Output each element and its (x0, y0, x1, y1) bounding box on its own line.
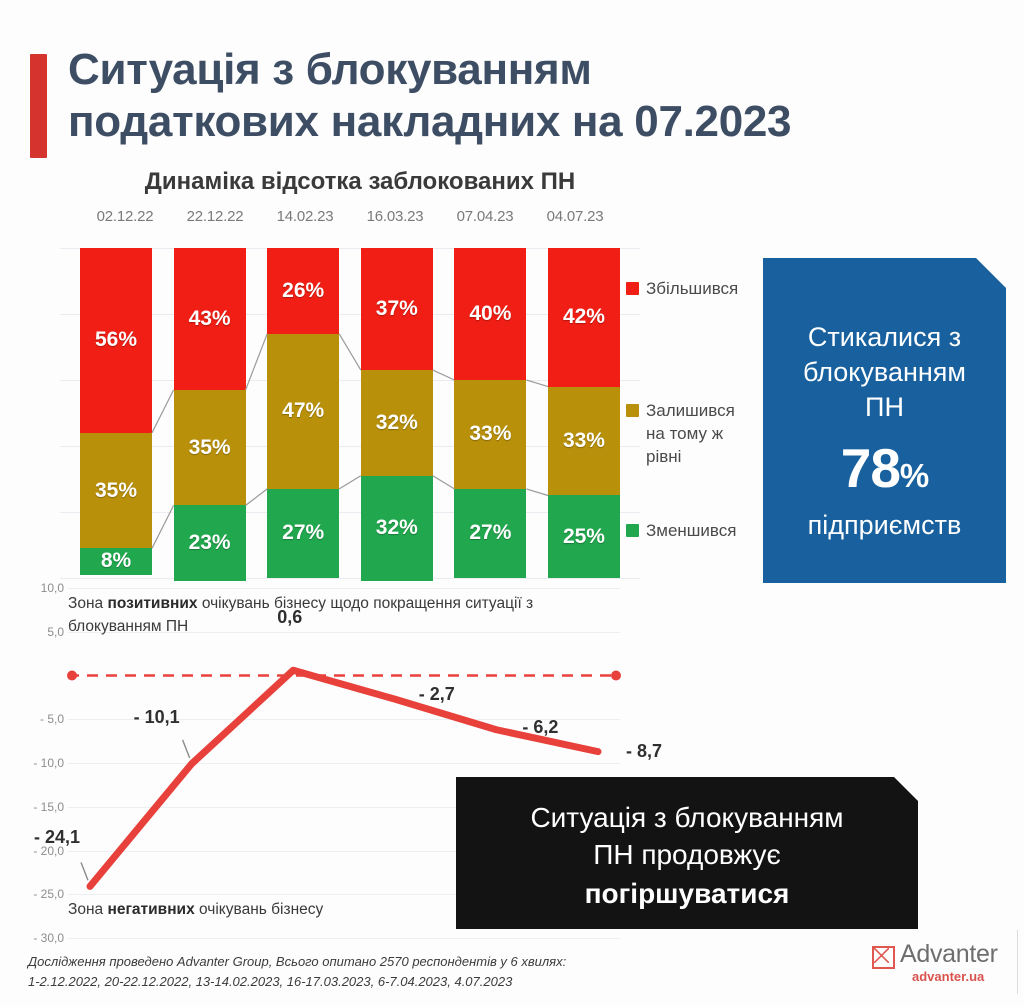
y-axis-tick-label: 5,0 (47, 625, 64, 639)
bar-column: 37%32%32% (361, 248, 433, 578)
black-callout-card: Ситуація з блокуванням ПН продовжує погі… (456, 777, 918, 929)
y-axis-tick-label: - 10,0 (33, 756, 64, 770)
bar-date-label: 16.03.23 (350, 208, 440, 234)
bar-segment-same: 33% (454, 380, 526, 489)
bar-segment-inc: 42% (548, 248, 620, 387)
footer-note-line-2: 1-2.12.2022, 20-22.12.2022, 13-14.02.202… (28, 972, 648, 992)
page-title-line-2: податкових накладних на 07.2023 (68, 96, 968, 148)
bar-date-label: 02.12.22 (80, 208, 170, 234)
black-callout-line-2: ПН продовжує (474, 836, 900, 873)
black-callout-line-3: погіршуватися (474, 875, 900, 912)
legend-swatch-icon (626, 282, 639, 295)
line-chart-y-axis: 10,05,0- 5,0- 10,0- 15,0- 20,0- 25,0- 30… (8, 588, 64, 938)
y-axis-tick-label: - 5,0 (40, 712, 64, 726)
bar-segment-dec: 32% (361, 476, 433, 582)
legend-label: Збільшився (646, 278, 738, 301)
black-callout-line-1: Ситуація з блокуванням (474, 799, 900, 836)
zero-baseline-endpoint (611, 671, 621, 681)
page-title: Ситуація з блокуванням податкових наклад… (68, 44, 968, 148)
bar-segment-dec: 27% (267, 489, 339, 578)
blue-callout-subtitle: підприємств (763, 510, 1006, 541)
black-callout-text: Ситуація з блокуванням ПН продовжує погі… (474, 799, 900, 913)
bar-chart-date-axis: 02.12.2222.12.2214.02.2316.03.2307.04.23… (80, 208, 620, 234)
bar-chart-plot: 56%35%8%43%35%23%26%47%27%37%32%32%40%33… (80, 248, 620, 578)
legend-item: Збільшився (626, 278, 738, 301)
legend-item: Залишився на тому ж рівні (626, 400, 756, 469)
bar-segment-inc: 56% (80, 248, 152, 433)
bar-segment-same: 33% (548, 387, 620, 496)
bar-segment-dec: 8% (80, 548, 152, 574)
bar-segment-inc: 26% (267, 248, 339, 334)
infographic-slide: Ситуація з блокуванням податкових наклад… (0, 0, 1024, 1007)
bar-segment-same: 35% (174, 390, 246, 506)
blue-callout-number: 78 (841, 437, 900, 499)
line-point-label: - 24,1 (34, 827, 80, 848)
bar-segment-inc: 43% (174, 248, 246, 390)
bar-column: 40%33%27% (454, 248, 526, 578)
header: Ситуація з блокуванням податкових наклад… (0, 24, 1024, 154)
blue-callout-value: 78% (763, 436, 1006, 500)
label-leader-line (81, 862, 88, 880)
zone-negative-post: очікувань бізнесу (195, 901, 324, 918)
bar-column: 43%35%23% (174, 248, 246, 578)
logo-url: advanter.ua (912, 969, 984, 984)
logo-wordmark: Advanter (900, 940, 998, 969)
footer-note: Дослідження проведено Advanter Group, Вс… (28, 952, 648, 992)
bar-segment-same: 35% (80, 433, 152, 549)
legend-swatch-icon (626, 524, 639, 537)
gridline (60, 578, 640, 579)
blue-callout-line-2: блокуванням (777, 355, 992, 390)
bar-chart-title: Динаміка відсотка заблокованих ПН (100, 168, 620, 196)
legend-label: Зменшився (646, 520, 736, 543)
y-axis-tick-label: - 25,0 (33, 887, 64, 901)
y-axis-tick-label: 10,0 (41, 581, 64, 595)
advanter-logo[interactable]: Advanter advanter.ua (872, 942, 1012, 990)
blue-callout-card: Стикалися з блокуванням ПН 78% підприємс… (763, 258, 1006, 583)
blue-callout-line-1: Стикалися з (777, 320, 992, 355)
label-leader-line (183, 740, 190, 758)
line-point-label: - 2,7 (419, 684, 455, 705)
bar-segment-same: 47% (267, 334, 339, 489)
bar-segment-inc: 37% (361, 248, 433, 370)
bar-date-label: 14.02.23 (260, 208, 350, 234)
bar-segment-same: 32% (361, 370, 433, 476)
bar-column: 42%33%25% (548, 248, 620, 578)
bar-chart-bars: 56%35%8%43%35%23%26%47%27%37%32%32%40%33… (80, 248, 620, 578)
bar-column: 56%35%8% (80, 248, 152, 578)
bar-date-label: 07.04.23 (440, 208, 530, 234)
legend-swatch-icon (626, 404, 639, 417)
line-point-label: 0,6 (277, 607, 302, 628)
legend-item: Зменшився (626, 520, 736, 543)
zero-baseline-endpoint (67, 671, 77, 681)
right-edge-divider (1017, 930, 1018, 994)
blue-callout-text: Стикалися з блокуванням ПН (777, 320, 992, 425)
bar-date-label: 22.12.22 (170, 208, 260, 234)
title-accent-bar (30, 54, 47, 158)
footer-note-line-1: Дослідження проведено Advanter Group, Вс… (28, 952, 648, 972)
envelope-icon (872, 946, 895, 969)
bar-segment-dec: 23% (174, 505, 246, 581)
line-point-label: - 8,7 (626, 741, 662, 762)
bar-segment-dec: 27% (454, 489, 526, 578)
zone-negative-label: Зона негативних очікувань бізнесу (68, 901, 488, 919)
bar-segment-inc: 40% (454, 248, 526, 380)
line-point-label: - 6,2 (522, 717, 558, 738)
bar-segment-dec: 25% (548, 495, 620, 578)
line-point-label: - 10,1 (134, 707, 180, 728)
legend-label: Залишився на тому ж рівні (646, 400, 756, 469)
y-axis-tick-label: - 30,0 (33, 931, 64, 945)
blue-callout-line-3: ПН (777, 390, 992, 425)
zone-negative-pre: Зона (68, 901, 107, 918)
blue-callout-percent-sign: % (900, 457, 928, 494)
zone-negative-bold: негативних (107, 901, 194, 918)
y-axis-tick-label: - 15,0 (33, 800, 64, 814)
gridline (68, 938, 620, 939)
bar-date-label: 04.07.23 (530, 208, 620, 234)
bar-column: 26%47%27% (267, 248, 339, 578)
page-title-line-1: Ситуація з блокуванням (68, 44, 968, 96)
